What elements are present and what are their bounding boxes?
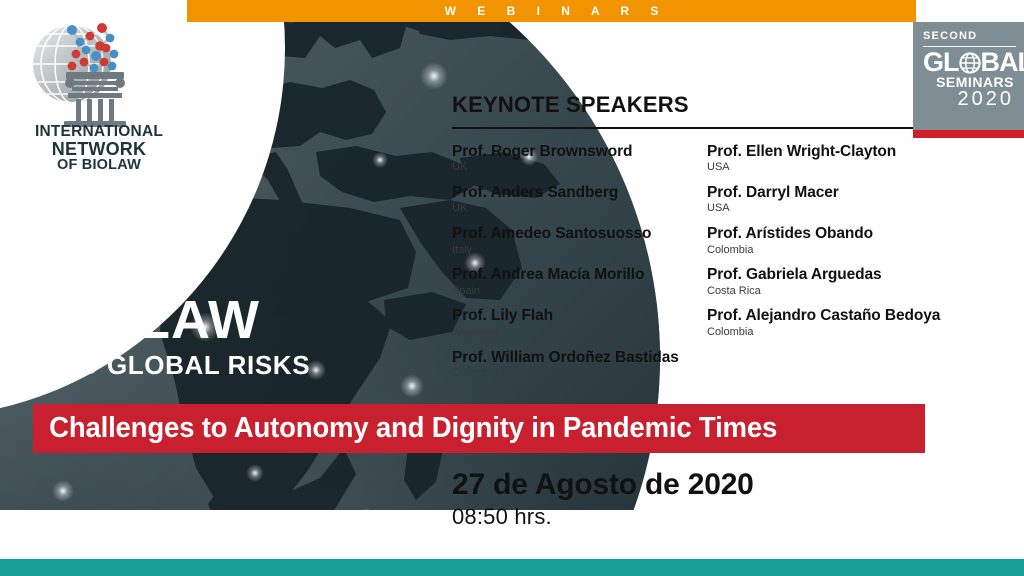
badge-global-label: GL BAL: [923, 49, 1016, 76]
speaker-entry: Prof. Ellen Wright-Clayton USA: [707, 143, 987, 175]
logo-line-3: OF BIOLAW: [14, 158, 184, 173]
webinars-label: W E B I N A R S: [436, 4, 668, 18]
webinars-banner: W E B I N A R S: [187, 0, 916, 22]
globe-icon: [959, 52, 981, 74]
speaker-name: Prof. Darryl Macer: [707, 184, 987, 201]
speaker-entry: Prof. Amedeo Santosuosso Italy: [452, 225, 707, 257]
speaker-country: USA: [707, 161, 987, 175]
subtitle-banner: Challenges to Autonomy and Dignity in Pa…: [33, 404, 925, 453]
badge-divider: [923, 46, 1016, 47]
webinar-poster: W E B I N A R S SECOND GL BAL SEMINARS 2…: [0, 0, 1024, 576]
speaker-entry: Prof. Roger Brownsword UK: [452, 143, 707, 175]
keynote-speakers-section: KEYNOTE SPEAKERS Prof. Roger Brownsword …: [452, 92, 992, 390]
logo-line-1: INTERNATIONAL: [14, 124, 184, 140]
badge-global-prefix: GL: [923, 49, 959, 76]
global-seminars-badge: SECOND GL BAL SEMINARS 2020: [913, 22, 1024, 137]
organisation-logo: INTERNATIONAL NETWORK OF BIOLAW: [14, 16, 184, 161]
speaker-name: Prof. Alejandro Castaño Bedoya: [707, 307, 987, 324]
speaker-country: Colombia: [707, 326, 987, 340]
event-date: 27 de Agosto de 2020: [452, 468, 754, 502]
speaker-name: Prof. Amedeo Santosuosso: [452, 225, 707, 242]
speaker-name: Prof. Lily Flah: [452, 307, 707, 324]
speaker-country: Colombia: [452, 367, 707, 381]
speaker-country: UK: [452, 202, 707, 216]
speaker-name: Prof. Andrea Macía Morillo: [452, 266, 707, 283]
speaker-entry: Prof. Arístides Obando Colombia: [707, 225, 987, 257]
speaker-entry: Prof. Andrea Macía Morillo Spain: [452, 266, 707, 298]
speaker-entry: Prof. Lily Flah Argentina: [452, 307, 707, 339]
speaker-name: Prof. Gabriela Arguedas: [707, 266, 987, 283]
speaker-entry: Prof. Gabriela Arguedas Costa Rica: [707, 266, 987, 298]
speaker-entry: Prof. Anders Sandberg UK: [452, 184, 707, 216]
speaker-country: Argentina: [452, 326, 707, 340]
speaker-country: Italy: [452, 244, 707, 258]
speaker-name: Prof. William Ordoñez Bastidas: [452, 349, 707, 366]
speakers-column-right: Prof. Ellen Wright-Clayton USA Prof. Dar…: [707, 143, 987, 390]
footer-bar: [0, 559, 1024, 576]
speaker-entry: Prof. Darryl Macer USA: [707, 184, 987, 216]
logo-line-2: NETWORK: [14, 140, 184, 158]
keynote-title: KEYNOTE SPEAKERS: [452, 92, 992, 118]
speaker-entry: Prof. William Ordoñez Bastidas Colombia: [452, 349, 707, 381]
event-title: BIOLAW AND GLOBAL RISKS: [38, 295, 310, 381]
speaker-country: Spain: [452, 285, 707, 299]
speaker-country: UK: [452, 161, 707, 175]
speaker-name: Prof. Roger Brownsword: [452, 143, 707, 160]
speaker-entry: Prof. Alejandro Castaño Bedoya Colombia: [707, 307, 987, 339]
speaker-name: Prof. Ellen Wright-Clayton: [707, 143, 987, 160]
event-time: 08:50 hrs.: [452, 504, 754, 530]
speaker-country: USA: [707, 202, 987, 216]
badge-global-suffix: BAL: [981, 49, 1024, 76]
badge-second-label: SECOND: [923, 30, 1016, 42]
badge-year-label: 2020: [923, 89, 1016, 109]
badge-red-underline: [913, 130, 1024, 138]
globe-column-molecule-icon: [14, 16, 184, 128]
event-title-main: BIOLAW: [38, 295, 310, 346]
subtitle-text: Challenges to Autonomy and Dignity in Pa…: [33, 412, 777, 445]
speaker-name: Prof. Anders Sandberg: [452, 184, 707, 201]
speakers-column-left: Prof. Roger Brownsword UK Prof. Anders S…: [452, 143, 707, 390]
keynote-divider: [452, 127, 952, 129]
speaker-name: Prof. Arístides Obando: [707, 225, 987, 242]
logo-text: INTERNATIONAL NETWORK OF BIOLAW: [14, 124, 184, 173]
speaker-country: Costa Rica: [707, 285, 987, 299]
event-datetime: 27 de Agosto de 2020 08:50 hrs.: [452, 468, 754, 530]
event-title-sub: AND GLOBAL RISKS: [38, 350, 310, 381]
speaker-country: Colombia: [707, 244, 987, 258]
